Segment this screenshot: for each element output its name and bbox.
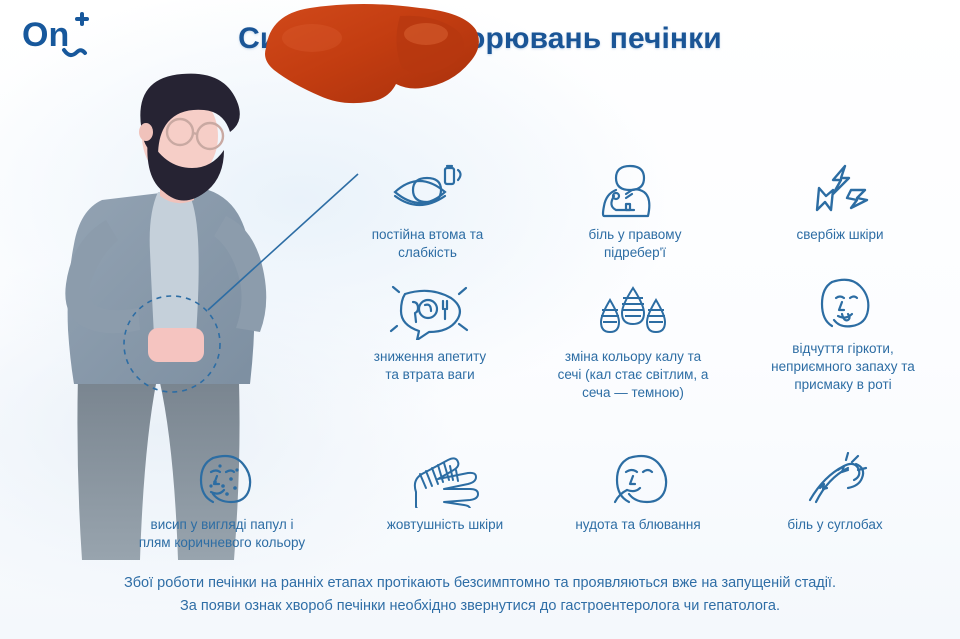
face-bitter-taste-icon [798,276,888,332]
person-side-pain-icon [590,162,680,218]
symptom-label: зниження апетиту та втрата ваги [335,348,525,384]
symptom-label: постійна втома та слабкість [335,226,520,262]
symptom-label: жовтушність шкіри [358,516,532,534]
symptom-rash: висип у вигляді папул і плям коричневого… [100,452,344,552]
face-nausea-icon [593,452,683,508]
symptom-label: біль у правому підребер'ї [540,226,730,262]
symptom-label: висип у вигляді папул і плям коричневого… [100,516,344,552]
lightning-itch-icon [795,162,885,218]
symptom-label: нудота та блювання [548,516,728,534]
symptom-label: свербіж шкіри [745,226,935,244]
symptom-skin-itching: свербіж шкіри [745,162,935,244]
shirt [150,192,199,336]
face-with-spots-icon [177,452,267,508]
liver-skin-patch [148,328,204,362]
footer-note: Збої роботи печінки на ранніх етапах про… [0,572,960,617]
page-title: Симптоми захворювань печінки [0,22,960,56]
symptom-appetite-loss: зниження апетиту та втрата ваги [335,284,525,384]
hatched-hand-icon [400,452,490,508]
symptom-label: зміна кольору калу та сечі (кал стає сві… [530,348,736,401]
eye-battery-icon [383,162,473,218]
symptom-label: відчуття гіркоти, неприємного запаху та … [740,340,946,393]
symptom-stool-urine-color: зміна кольору калу та сечі (кал стає сві… [530,284,736,401]
liver-organ-illustration [250,0,480,130]
speech-bubble-food-icon [385,284,475,340]
symptom-fatigue: постійна втома та слабкість [335,162,520,262]
arm-joint-pain-icon [790,452,880,508]
symptom-joint-pain: біль у суглобах [748,452,922,534]
symptom-bitter-taste: відчуття гіркоти, неприємного запаху та … [740,276,946,393]
liver-highlight-2 [282,24,342,52]
symptom-jaundice: жовтушність шкіри [358,452,532,534]
infographic-canvas: On Симптоми захворювань печінки [0,0,960,639]
ear [139,123,153,141]
symptom-right-rib-pain: біль у правому підребер'ї [540,162,730,262]
three-droplets-icon [588,284,678,340]
symptom-label: біль у суглобах [748,516,922,534]
symptom-nausea-vomiting: нудота та блювання [548,452,728,534]
liver-highlight [404,23,448,45]
